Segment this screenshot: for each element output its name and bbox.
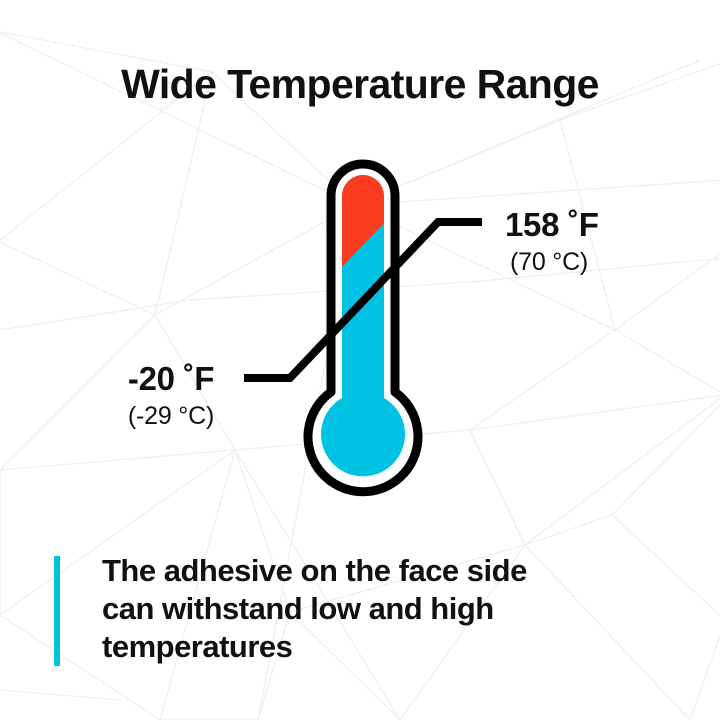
caption-accent-bar bbox=[54, 556, 60, 666]
caption-line: temperatures bbox=[102, 628, 662, 666]
caption-line: can withstand low and high bbox=[102, 590, 662, 628]
high-temp-celsius: (70 °C) bbox=[505, 248, 599, 277]
low-temp-celsius: (-29 °C) bbox=[96, 402, 246, 431]
low-temperature-callout: -20 ˚F (-29 °C) bbox=[96, 362, 246, 430]
high-temperature-callout: 158 ˚F (70 °C) bbox=[505, 208, 599, 276]
caption-line: The adhesive on the face side bbox=[102, 552, 662, 590]
caption-text: The adhesive on the face side can withst… bbox=[102, 552, 662, 666]
page-title: Wide Temperature Range bbox=[0, 62, 720, 107]
thermometer-icon bbox=[230, 150, 530, 510]
high-temp-fahrenheit: 158 ˚F bbox=[505, 208, 599, 243]
temperature-range-infographic: Wide Temperature Range 158 ˚F (70 °C) -2… bbox=[0, 0, 720, 720]
low-temp-fahrenheit: -20 ˚F bbox=[96, 362, 246, 397]
